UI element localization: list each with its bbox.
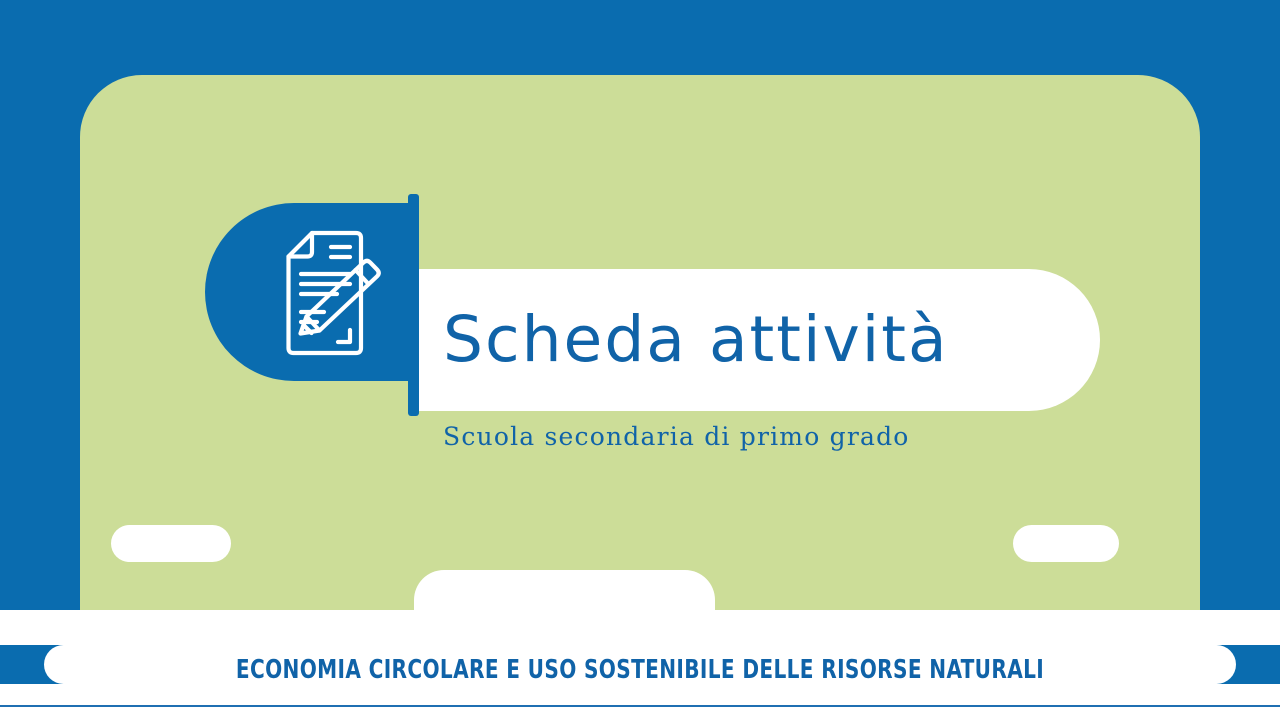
- footer-topic-label: ECONOMIA CIRCOLARE E USO SOSTENIBILE DEL…: [90, 655, 1191, 685]
- decorative-pill-left: [111, 525, 231, 562]
- slide-canvas: Scheda attività Scuola secondaria di pri…: [0, 0, 1280, 720]
- decorative-pill-right: [1013, 525, 1119, 562]
- bottom-rule: [0, 705, 1280, 707]
- document-pencil-icon: [255, 222, 385, 364]
- icon-badge-bar: [408, 194, 419, 416]
- page-subtitle: Scuola secondaria di primo grado: [443, 422, 910, 451]
- page-title: Scheda attività: [443, 300, 1083, 380]
